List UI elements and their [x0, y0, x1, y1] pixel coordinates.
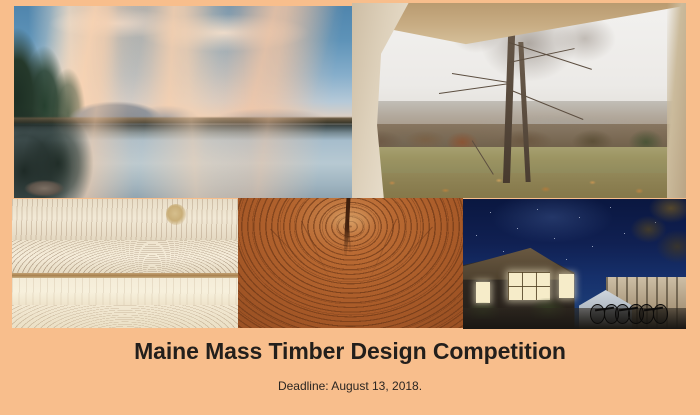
- star: [566, 259, 567, 260]
- presentation-slide: Maine Mass Timber Design Competition Dea…: [0, 0, 700, 415]
- bicycle-frame: [644, 307, 663, 312]
- page-title: Maine Mass Timber Design Competition: [0, 336, 700, 366]
- night-tree: [615, 199, 686, 285]
- clt-lamella-lower: [12, 278, 238, 306]
- tree-rings-photo: [238, 198, 463, 328]
- timber-canopy-photo: [352, 3, 686, 198]
- star: [517, 228, 518, 229]
- timber-edge-right: [667, 3, 686, 198]
- bicycle-frame: [595, 307, 614, 312]
- tree-ray-line: [388, 226, 432, 275]
- lake-sunset-photo: [14, 6, 352, 198]
- clt-lamella-middle: [12, 240, 238, 274]
- tree-ray-line: [270, 229, 314, 275]
- lit-window: [559, 274, 575, 297]
- caption-block: Maine Mass Timber Design Competition Dea…: [0, 336, 700, 394]
- canopy-leaf-litter: [352, 173, 686, 198]
- window-muntin-grid: [508, 272, 550, 301]
- deadline-text: Deadline: August 13, 2018.: [0, 366, 700, 394]
- tree-heartwood: [328, 206, 373, 235]
- clt-lamella-bottom: [12, 305, 238, 328]
- clt-knot: [166, 204, 186, 225]
- star: [490, 212, 491, 213]
- parked-bicycle: [639, 298, 668, 324]
- lit-window: [476, 282, 489, 303]
- clt-panel-photo: [12, 199, 238, 328]
- bicycle-frame: [619, 307, 638, 312]
- night-building-photo: [463, 199, 686, 329]
- clt-lamella-top: [12, 199, 238, 242]
